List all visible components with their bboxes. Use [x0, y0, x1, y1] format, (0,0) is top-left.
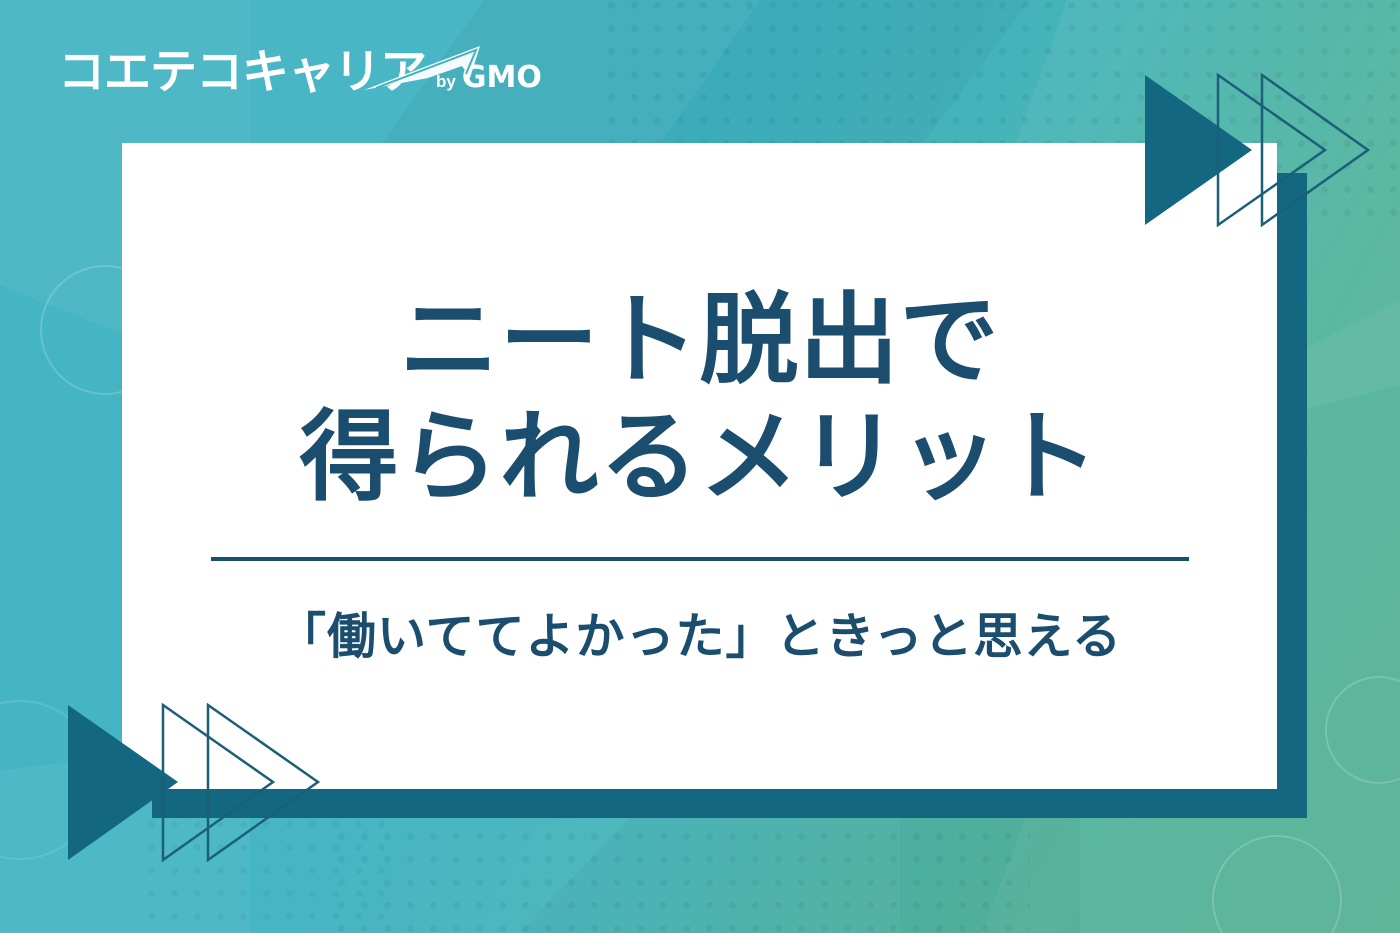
page-title: ニート脱出で 得られるメリット: [300, 286, 1100, 512]
arrow-swoosh-icon: [358, 44, 488, 96]
title-divider: [211, 557, 1189, 561]
thumbnail-canvas: ニート脱出で 得られるメリット 「働いててよかった」ときっと思える コエテコキャ…: [0, 0, 1400, 933]
brand-logo[interactable]: コエテコキャリア by GMO: [58, 48, 542, 95]
title-line-2: 得られるメリット: [300, 403, 1100, 512]
page-subtitle: 「働いててよかった」ときっと思える: [277, 597, 1122, 668]
card-content: ニート脱出で 得られるメリット 「働いててよかった」ときっと思える: [122, 143, 1277, 789]
title-line-1: ニート脱出で: [300, 286, 1100, 395]
